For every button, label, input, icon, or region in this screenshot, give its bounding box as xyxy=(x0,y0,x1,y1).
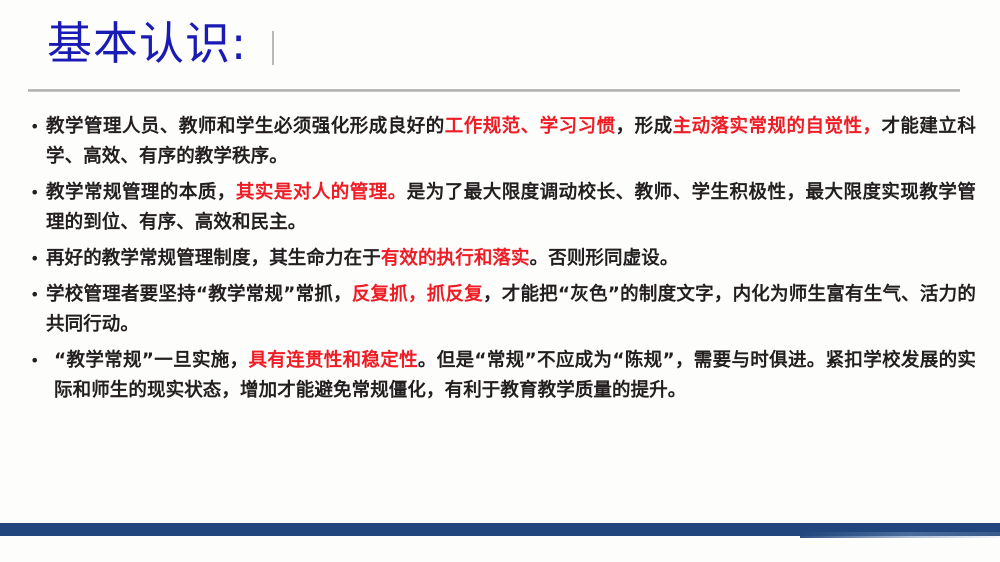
page-title: 基本认识: xyxy=(47,16,247,72)
bullet-list: • 教学管理人员、教师和学生必须强化形成良好的工作规范、学习习惯，形成主动落实常… xyxy=(0,112,1000,412)
highlighted-text: 有效的执行和落实 xyxy=(381,248,530,269)
plain-text: 教学常规管理的本质， xyxy=(46,182,236,203)
bullet-text: 再好的教学常规管理制度，其生命力在于有效的执行和落实。否则形同虚设。 xyxy=(46,244,976,274)
plain-text: 再好的教学常规管理制度，其生命力在于 xyxy=(46,248,381,269)
bullet-text: 学校管理者要坚持“教学常规”常抓，反复抓，抓反复，才能把“灰色”的制度文字，内化… xyxy=(46,280,976,340)
plain-text: 教学管理人员、教师和学生必须强化形成良好的 xyxy=(46,116,445,137)
highlighted-text: 主动落实常规的自觉性， xyxy=(673,116,882,137)
highlighted-text: 其实是对人的管理。 xyxy=(236,182,407,203)
plain-text: 学校管理者要坚持“教学常规”常抓， xyxy=(46,284,352,305)
footer-accent-bar-taper xyxy=(800,532,1000,538)
bullet-text: 教学常规管理的本质，其实是对人的管理。是为了最大限度调动校长、教师、学生积极性，… xyxy=(46,178,976,238)
slide-canvas: 基本认识: • 教学管理人员、教师和学生必须强化形成良好的工作规范、学习习惯，形… xyxy=(0,0,1000,562)
bullet-text: 教学管理人员、教师和学生必须强化形成良好的工作规范、学习习惯，形成主动落实常规的… xyxy=(46,112,976,172)
highlighted-text: 反复抓，抓反复 xyxy=(352,284,483,305)
bullet-marker-icon: • xyxy=(30,244,46,274)
bullet-marker-icon: • xyxy=(30,178,46,208)
list-item: • 教学管理人员、教师和学生必须强化形成良好的工作规范、学习习惯，形成主动落实常… xyxy=(0,112,1000,172)
highlighted-text: 具有连贯性和稳定性 xyxy=(248,350,417,371)
plain-text: “教学常规”一旦实施， xyxy=(54,350,248,371)
plain-text: ，形成 xyxy=(616,116,673,137)
highlighted-text: 工作规范、学习习惯 xyxy=(445,116,616,137)
bullet-marker-icon: • xyxy=(30,112,46,142)
bullet-marker-icon: • xyxy=(30,280,46,310)
list-item: • 教学常规管理的本质，其实是对人的管理。是为了最大限度调动校长、教师、学生积极… xyxy=(0,178,1000,238)
list-item: • “教学常规”一旦实施，具有连贯性和稳定性。但是“常规”不应成为“陈规”，需要… xyxy=(0,346,1000,406)
list-item: • 再好的教学常规管理制度，其生命力在于有效的执行和落实。否则形同虚设。 xyxy=(0,244,1000,274)
list-item: • 学校管理者要坚持“教学常规”常抓，反复抓，抓反复，才能把“灰色”的制度文字，… xyxy=(0,280,1000,340)
bullet-marker-icon: • xyxy=(30,346,54,376)
title-divider xyxy=(28,89,960,92)
text-cursor-icon xyxy=(272,31,274,65)
bullet-text: “教学常规”一旦实施，具有连贯性和稳定性。但是“常规”不应成为“陈规”，需要与时… xyxy=(54,346,976,406)
plain-text: 。否则形同虚设。 xyxy=(530,248,679,269)
slide-title-block: 基本认识: xyxy=(0,0,1000,96)
